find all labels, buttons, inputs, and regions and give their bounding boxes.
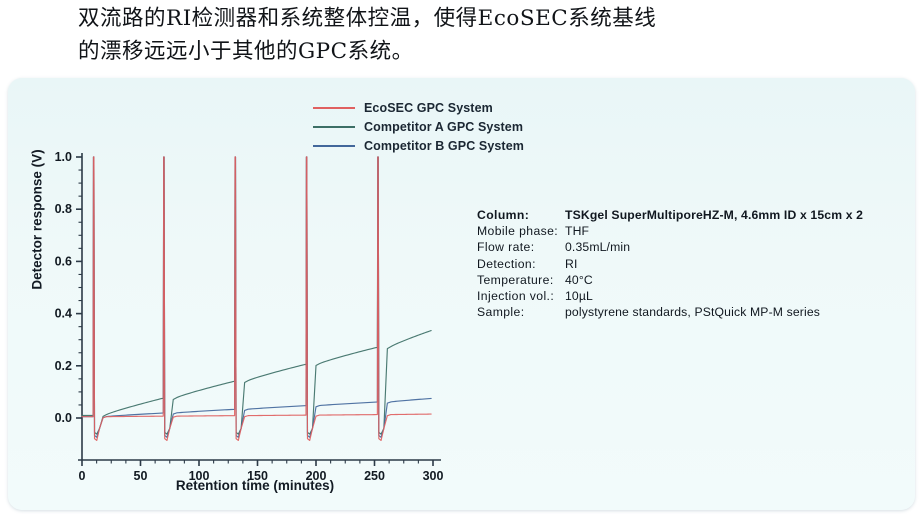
conditions-key: Flow rate:	[477, 240, 565, 255]
conditions-row: Column:TSKgel SuperMultiporeHZ-M, 4.6mm …	[477, 208, 909, 223]
chart-legend: EcoSEC GPC SystemCompetitor A GPC System…	[313, 98, 524, 155]
conditions-key: Mobile phase:	[477, 224, 565, 239]
page-title: 双流路的RI检测器和系统整体控温，使得EcoSEC系统基线 的漂移远远小于其他的…	[78, 2, 878, 68]
conditions-value: TSKgel SuperMultiporeHZ-M, 4.6mm ID x 15…	[565, 208, 909, 223]
conditions-row: Temperature:40°C	[477, 273, 909, 288]
legend-item: Competitor A GPC System	[313, 117, 524, 136]
legend-color-swatch	[313, 107, 355, 109]
conditions-value: polystyrene standards, PStQuick MP-M ser…	[565, 305, 909, 320]
legend-label: EcoSEC GPC System	[364, 101, 493, 115]
legend-label: Competitor B GPC System	[364, 139, 524, 153]
conditions-key: Column:	[477, 208, 565, 223]
conditions-table: Column:TSKgel SuperMultiporeHZ-M, 4.6mm …	[477, 208, 909, 321]
conditions-key: Sample:	[477, 305, 565, 320]
conditions-row: Flow rate:0.35mL/min	[477, 240, 909, 255]
legend-color-swatch	[313, 126, 355, 128]
conditions-key: Detection:	[477, 257, 565, 272]
legend-label: Competitor A GPC System	[364, 120, 523, 134]
conditions-value: 40°C	[565, 273, 909, 288]
x-axis-title: Retention time (minutes)	[105, 478, 405, 493]
conditions-row: Injection vol.:10µL	[477, 289, 909, 304]
y-axis-title: Detector response (V)	[30, 120, 45, 320]
legend-color-swatch	[313, 145, 355, 147]
conditions-row: Mobile phase:THF	[477, 224, 909, 239]
legend-item: EcoSEC GPC System	[313, 98, 524, 117]
conditions-row: Detection:RI	[477, 257, 909, 272]
legend-item: Competitor B GPC System	[313, 136, 524, 155]
conditions-value: 0.35mL/min	[565, 240, 909, 255]
conditions-value: RI	[565, 257, 909, 272]
conditions-row: Sample:polystyrene standards, PStQuick M…	[477, 305, 909, 320]
conditions-key: Temperature:	[477, 273, 565, 288]
conditions-value: 10µL	[565, 289, 909, 304]
conditions-key: Injection vol.:	[477, 289, 565, 304]
conditions-value: THF	[565, 224, 909, 239]
